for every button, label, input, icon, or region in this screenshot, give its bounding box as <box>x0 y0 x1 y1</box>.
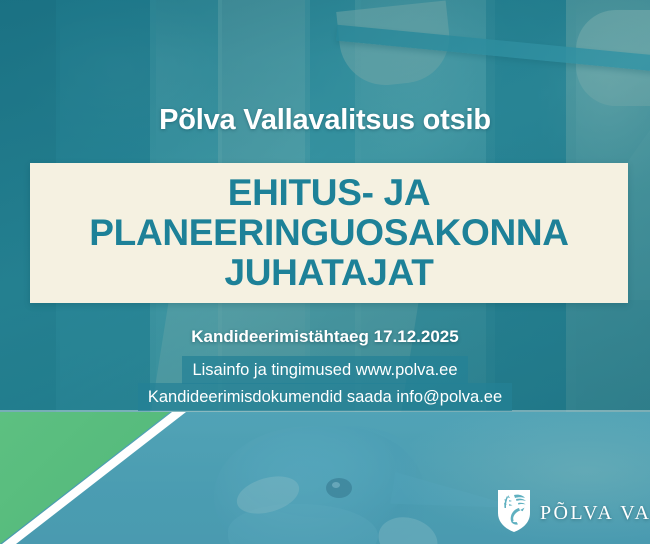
headline-line-3: JUHATAJAT <box>30 253 628 293</box>
info-line-email: Kandideerimisdokumendid saada info@polva… <box>138 383 512 411</box>
logo-wordmark: PÕLVA VALD <box>540 502 650 525</box>
headline-line-1: EHITUS- JA <box>30 173 628 213</box>
headline-text: EHITUS- JA PLANEERINGUOSAKONNA JUHATAJAT <box>30 173 628 293</box>
coat-of-arms-shield-icon <box>497 489 531 538</box>
headline-line-2: PLANEERINGUOSAKONNA <box>30 213 628 253</box>
poster-title: Põlva Vallavalitsus otsib <box>0 104 650 137</box>
info-line-website: Lisainfo ja tingimused www.polva.ee <box>182 356 467 384</box>
headline-banner: EHITUS- JA PLANEERINGUOSAKONNA JUHATAJAT <box>30 163 628 303</box>
job-advert-poster: Põlva Vallavalitsus otsib EHITUS- JA PLA… <box>0 0 650 544</box>
polva-vald-logo: PÕLVA VALD <box>497 489 650 538</box>
application-deadline: Kandideerimistähtaeg 17.12.2025 <box>0 327 650 347</box>
info-block: Lisainfo ja tingimused www.polva.ee Kand… <box>0 356 650 411</box>
